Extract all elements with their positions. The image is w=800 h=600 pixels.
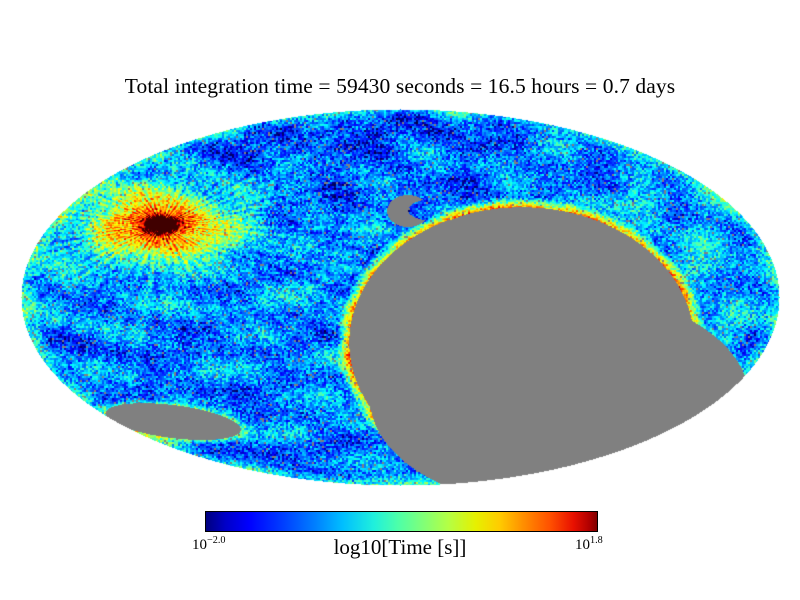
colorbar-max-mantissa: 10	[575, 537, 590, 553]
colorbar-max-tick-label: 101.8	[575, 537, 603, 554]
figure-canvas: Total integration time = 59430 seconds =…	[0, 0, 800, 600]
colorbar-gradient	[205, 511, 598, 532]
page-title: Total integration time = 59430 seconds =…	[0, 74, 800, 99]
colorbar-axis-label: log10[Time [s]]	[0, 535, 800, 560]
colorbar-max-exponent: 1.8	[590, 535, 603, 546]
colorbar: 10−2.0 log10[Time [s]] 101.8	[0, 505, 800, 565]
skymap-canvas	[20, 108, 780, 486]
skymap-mollweide-projection	[20, 108, 780, 486]
